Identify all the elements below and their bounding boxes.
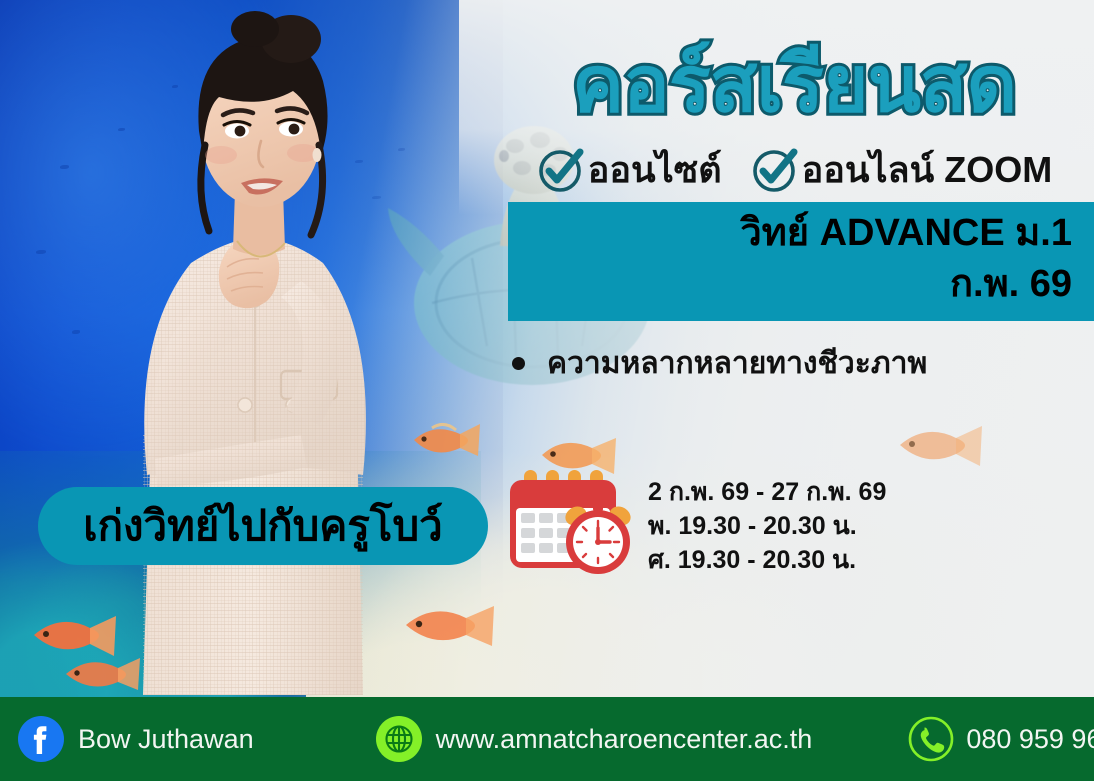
mode-onsite-label: ออนไซต์ bbox=[588, 152, 722, 188]
schedule-friday: ศ. 19.30 - 20.30 น. bbox=[648, 544, 886, 576]
globe-icon[interactable] bbox=[376, 716, 422, 762]
mode-onsite: ออนไซต์ bbox=[536, 145, 722, 195]
phone-label[interactable]: 080 959 9698 bbox=[966, 726, 1094, 753]
schedule-wednesday: พ. 19.30 - 20.30 น. bbox=[648, 510, 886, 542]
poster-canvas: คอร์สเรียนสด ออนไซต์ ออนไลน์ ZOOM วิทย์ … bbox=[0, 0, 1094, 781]
facebook-icon[interactable] bbox=[18, 716, 64, 762]
facebook-contact[interactable]: Bow Juthawan bbox=[18, 716, 254, 762]
tagline-label: เก่งวิทย์ไปกับครูโบว์ bbox=[83, 493, 443, 559]
website-contact[interactable]: www.amnatcharoencenter.ac.th bbox=[376, 716, 813, 762]
course-info-box: วิทย์ ADVANCE ม.1 ก.พ. 69 bbox=[508, 202, 1094, 321]
delivery-modes: ออนไซต์ ออนไลน์ ZOOM bbox=[505, 145, 1083, 195]
mode-online-label: ออนไลน์ ZOOM bbox=[802, 152, 1053, 188]
topic-list-item: ความหลากหลายทางชีวะภาพ bbox=[512, 340, 927, 387]
schedule-date-range: 2 ก.พ. 69 - 27 ก.พ. 69 bbox=[648, 476, 886, 508]
phone-icon[interactable] bbox=[906, 714, 956, 764]
phone-contact[interactable]: 080 959 9698 bbox=[906, 714, 1094, 764]
contact-footer: Bow Juthawan www.amnatcharoencenter.ac.t… bbox=[0, 697, 1094, 781]
anthias-fish bbox=[404, 418, 482, 462]
course-month: ก.พ. 69 bbox=[508, 259, 1072, 310]
website-label[interactable]: www.amnatcharoencenter.ac.th bbox=[436, 726, 813, 753]
teacher-photo bbox=[95, 5, 415, 695]
check-circle-icon bbox=[750, 145, 800, 195]
tagline-pill: เก่งวิทย์ไปกับครูโบว์ bbox=[38, 487, 488, 565]
course-name: วิทย์ ADVANCE ม.1 bbox=[508, 208, 1072, 259]
schedule-lines: 2 ก.พ. 69 - 27 ก.พ. 69 พ. 19.30 - 20.30 … bbox=[648, 472, 886, 576]
mode-online: ออนไลน์ ZOOM bbox=[750, 145, 1053, 195]
facebook-label[interactable]: Bow Juthawan bbox=[78, 726, 254, 753]
schedule-block: 2 ก.พ. 69 - 27 ก.พ. 69 พ. 19.30 - 20.30 … bbox=[500, 468, 886, 580]
topic-label: ความหลากหลายทางชีวะภาพ bbox=[547, 340, 927, 387]
page-title: คอร์สเรียนสด bbox=[505, 47, 1083, 121]
anthias-fish bbox=[888, 418, 984, 472]
bullet-dot-icon bbox=[512, 357, 525, 370]
calendar-clock-icon bbox=[500, 468, 632, 580]
check-circle-icon bbox=[536, 145, 586, 195]
